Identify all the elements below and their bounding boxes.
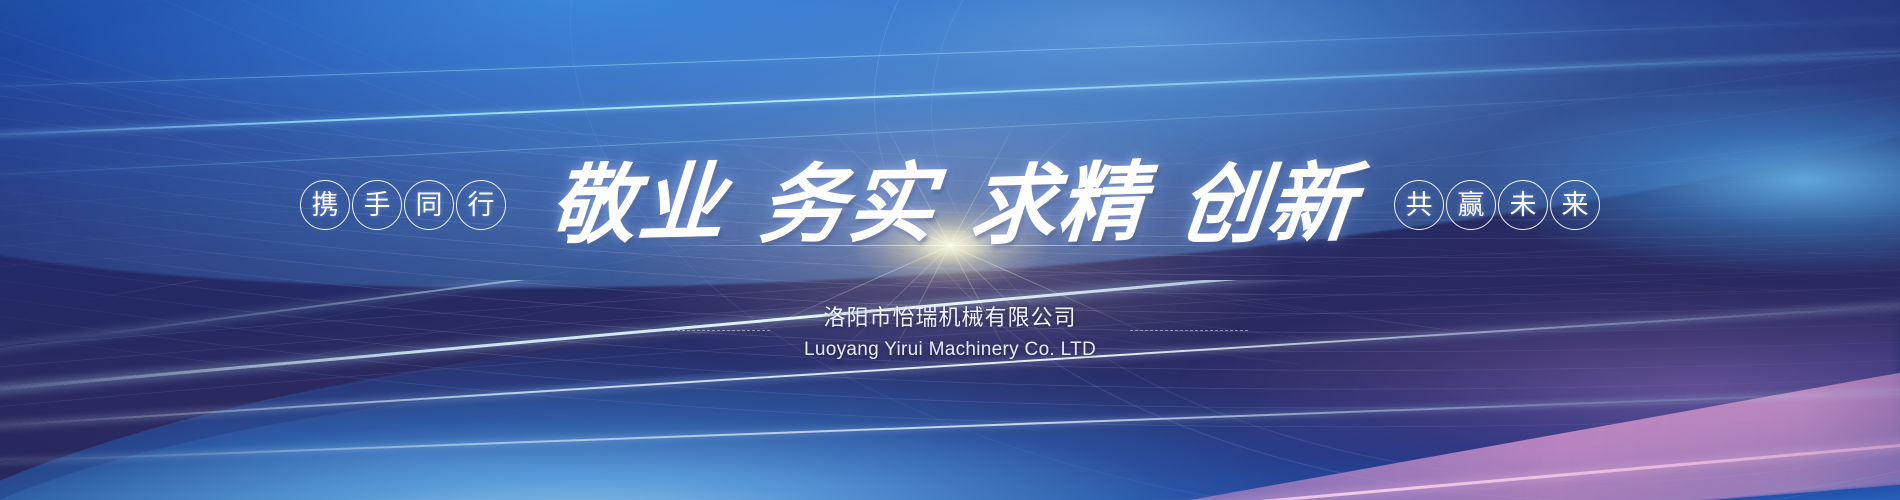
circled-char-lai: 来: [1550, 180, 1600, 230]
circled-char-shou: 手: [352, 180, 402, 230]
brush-word-qiujing: 求精: [967, 160, 1148, 251]
dashed-rule-right: [1130, 330, 1248, 332]
company-name-english: Luoyang Yirui Machinery Co. LTD: [804, 335, 1096, 365]
circled-char-xing: 行: [456, 180, 506, 230]
dashed-rule-left: [652, 330, 770, 332]
circled-char-ying: 赢: [1446, 180, 1496, 230]
slogan-brush-text: 敬业 务实 求精 创新: [533, 162, 1373, 248]
circled-char-xie: 携: [300, 180, 350, 230]
brush-word-chuangxin: 创新: [1175, 161, 1361, 250]
company-name-chinese: 洛阳市怡瑞机械有限公司: [804, 302, 1096, 335]
circled-char-wei: 未: [1498, 180, 1548, 230]
slogan-circles-left: 携 手 同 行: [299, 180, 507, 230]
circled-char-gong: 共: [1394, 180, 1444, 230]
banner-content: 携 手 同 行 敬业 务实 求精 创新 共 赢 未 来 洛阳市怡瑞机械有限公司: [0, 0, 1900, 500]
company-names: 洛阳市怡瑞机械有限公司 Luoyang Yirui Machinery Co. …: [804, 302, 1096, 365]
corporate-slogan-banner: 携 手 同 行 敬业 务实 求精 创新 共 赢 未 来 洛阳市怡瑞机械有限公司: [0, 0, 1900, 500]
circled-char-tong: 同: [404, 180, 454, 230]
slogan-circles-right: 共 赢 未 来: [1393, 180, 1601, 230]
company-identity-block: 洛阳市怡瑞机械有限公司 Luoyang Yirui Machinery Co. …: [652, 296, 1248, 365]
slogan-row: 携 手 同 行 敬业 务实 求精 创新 共 赢 未 来: [299, 162, 1601, 248]
brush-word-wushi: 务实: [756, 161, 940, 249]
brush-word-jingye: 敬业: [547, 160, 729, 250]
